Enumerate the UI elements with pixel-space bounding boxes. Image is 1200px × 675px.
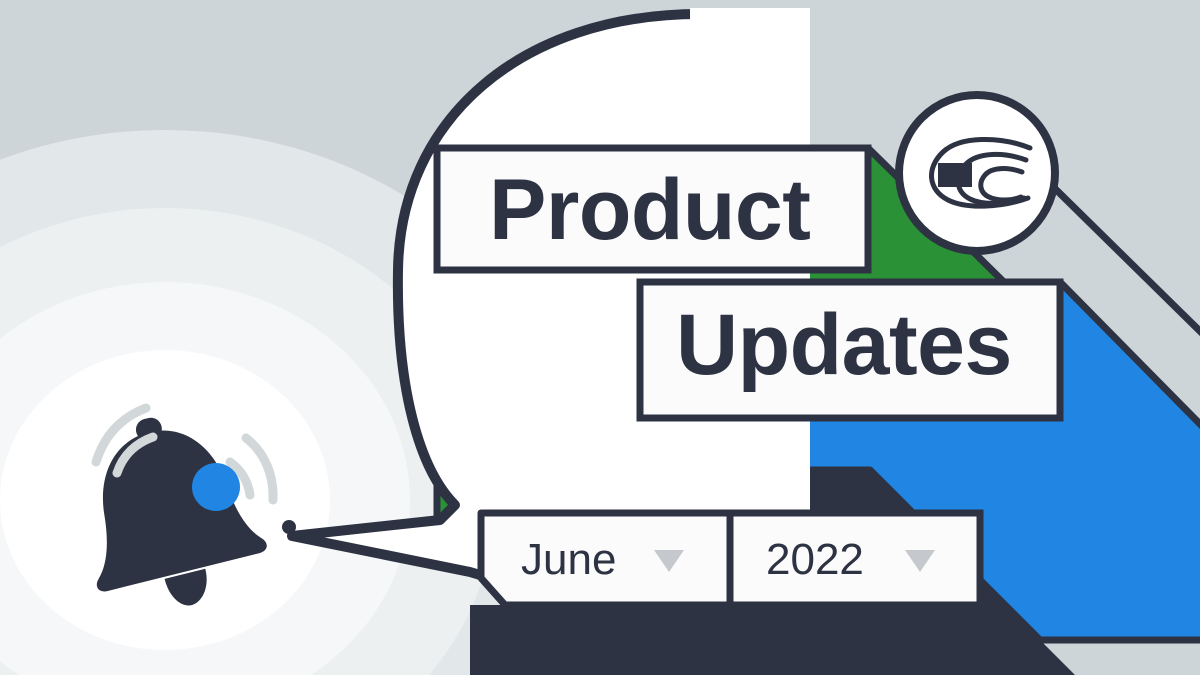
month-selector-panel[interactable] (481, 513, 730, 605)
product-panel[interactable] (437, 148, 868, 270)
updates-panel[interactable] (640, 282, 1060, 418)
year-selector-panel[interactable] (730, 513, 980, 605)
notification-dot (192, 463, 240, 511)
badge-circle[interactable] (899, 95, 1055, 251)
hero-banner: Product Updates June 2022 (0, 0, 1200, 675)
hero-artwork (0, 0, 1200, 675)
decorative-dot (282, 520, 296, 534)
